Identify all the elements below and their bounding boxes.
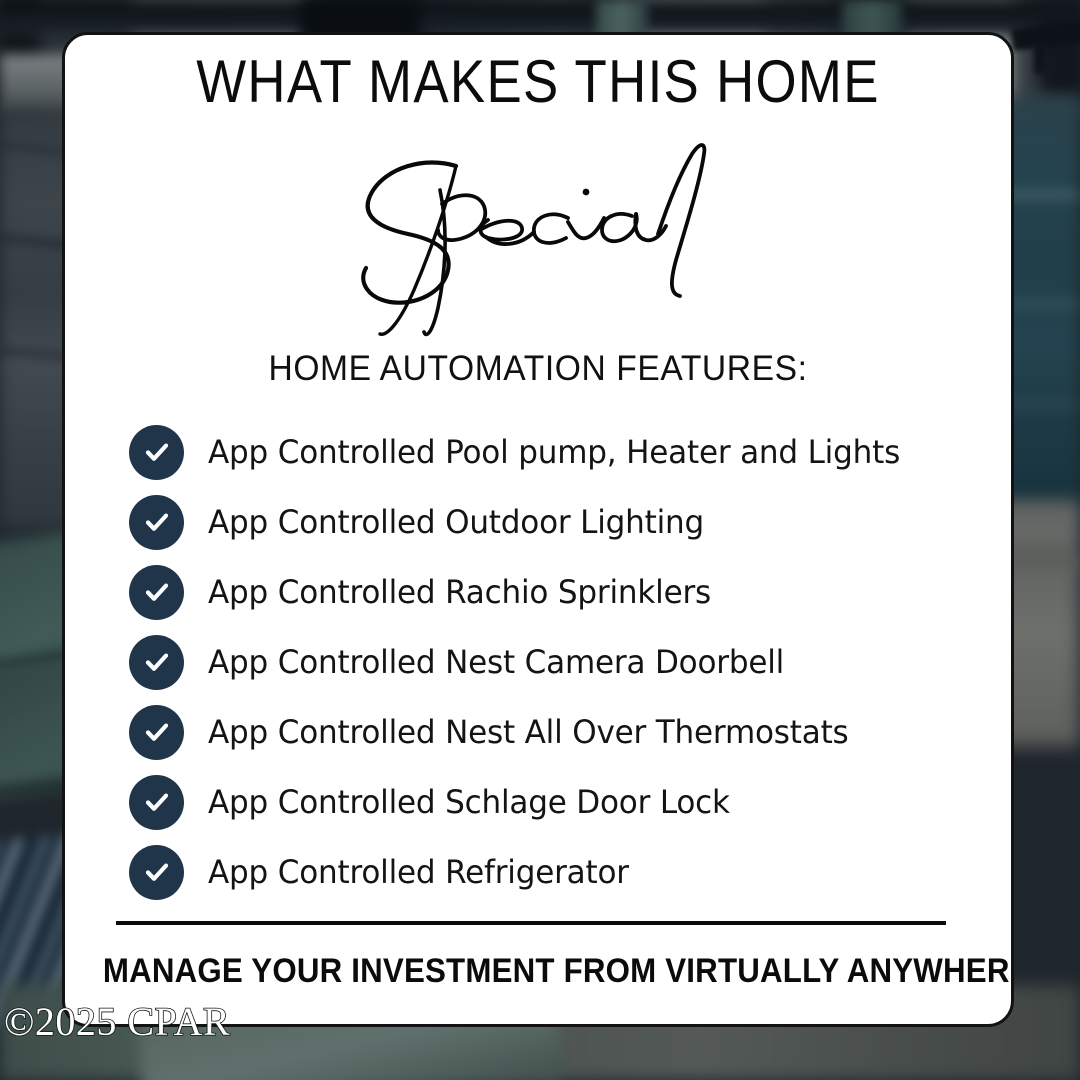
copyright-watermark: ©2025 CPAR (4, 1000, 230, 1044)
feature-label: App Controlled Nest Camera Doorbell (208, 644, 784, 680)
footer-divider (116, 921, 946, 925)
feature-label: App Controlled Refrigerator (208, 854, 629, 890)
feature-item: App Controlled Refrigerator (129, 837, 969, 907)
check-circle-icon (129, 495, 184, 550)
features-subheading: HOME AUTOMATION FEATURES: (84, 348, 992, 390)
check-circle-icon (129, 705, 184, 760)
feature-item: App Controlled Rachio Sprinklers (129, 557, 969, 627)
feature-label: App Controlled Nest All Over Thermostats (208, 714, 849, 750)
check-circle-icon (129, 565, 184, 620)
feature-item: App Controlled Nest Camera Doorbell (129, 627, 969, 697)
feature-card: WHAT MAKES THIS HOME (62, 32, 1014, 1027)
card-title: WHAT MAKES THIS HOME (122, 49, 954, 115)
script-word-special (65, 127, 1011, 342)
check-circle-icon (129, 425, 184, 480)
footer-note: MANAGE YOUR INVESTMENT FROM VIRTUALLY AN… (103, 950, 973, 992)
feature-label: App Controlled Pool pump, Heater and Lig… (208, 434, 900, 470)
screenshot-root: WHAT MAKES THIS HOME (0, 0, 1080, 1080)
feature-item: App Controlled Schlage Door Lock (129, 767, 969, 837)
feature-item: App Controlled Pool pump, Heater and Lig… (129, 417, 969, 487)
feature-item: App Controlled Nest All Over Thermostats (129, 697, 969, 767)
feature-label: App Controlled Rachio Sprinklers (208, 574, 711, 610)
feature-label: App Controlled Outdoor Lighting (208, 504, 704, 540)
feature-label: App Controlled Schlage Door Lock (208, 784, 730, 820)
check-circle-icon (129, 635, 184, 690)
check-circle-icon (129, 845, 184, 900)
feature-item: App Controlled Outdoor Lighting (129, 487, 969, 557)
features-list: App Controlled Pool pump, Heater and Lig… (129, 417, 969, 907)
check-circle-icon (129, 775, 184, 830)
